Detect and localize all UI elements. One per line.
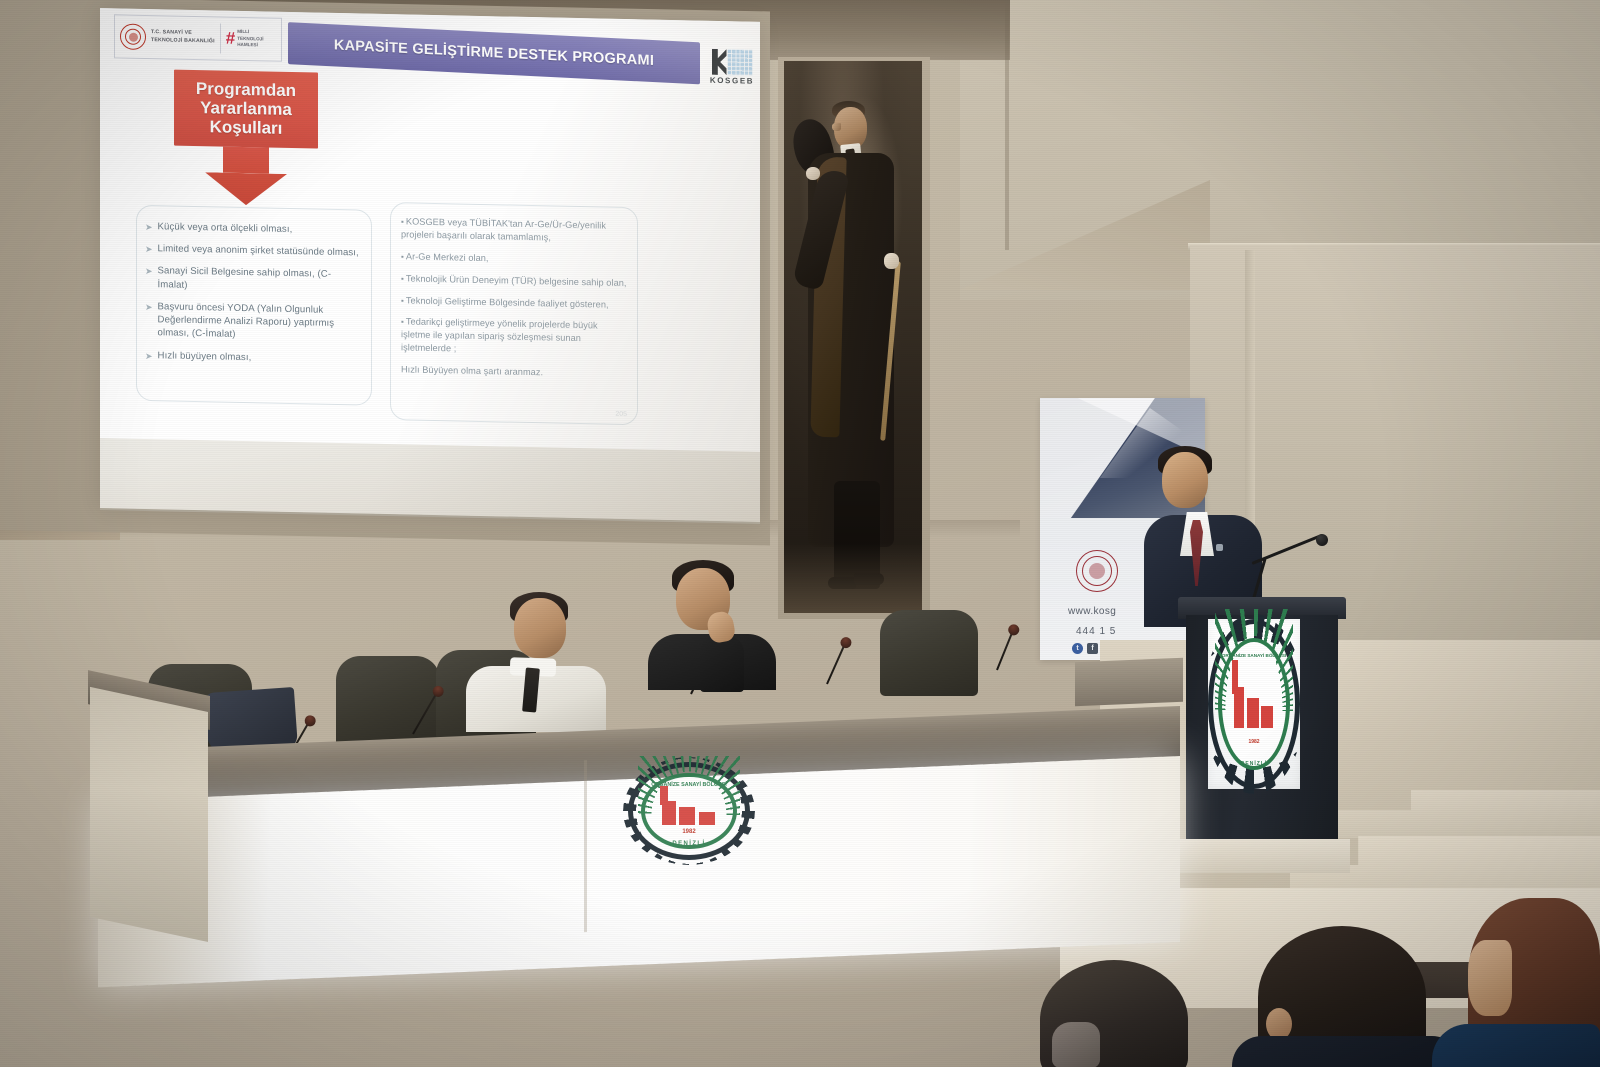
list-item: ➤ Sanayi Sicil Belgesine sahip olması, (… [145,264,361,295]
factory-block-3 [699,812,715,825]
portrait-right-hand [884,253,899,269]
ataturk-portrait [778,57,930,619]
conditions-footnote: Hızlı Büyüyen olma şartı aranmaz. [401,363,627,381]
lectern-logo-panel: ORGANİZE SANAYİ BÖLGESİ 1982 DENİZLİ [1208,619,1300,789]
osb-ring-text-bottom: DENİZLİ [628,841,750,847]
presentation-slide: T.C. SANAYİ VE TEKNOLOJİ BAKANLIĞI # MİL… [100,8,760,452]
factory-block-3 [1261,706,1273,728]
osb-ring-text-top: ORGANİZE SANAYİ BÖLGESİ [628,782,750,788]
facebook-icon: f [1087,643,1098,654]
arrow-bullet-icon: ➤ [145,300,153,313]
list-item: ➤ Başvuru öncesi YODA (Yalın Olgunluk De… [145,300,361,344]
kosgeb-k-icon [712,49,727,75]
desk-right-cap [1075,658,1183,707]
arrow-bullet-icon: ➤ [145,242,153,255]
podium-microphone-head-icon [1316,534,1328,546]
list-item: Teknoloji Geliştirme Bölgesinde faaliyet… [401,294,627,312]
condition-text: Hızlı büyüyen olması, [158,349,252,364]
conditions-callout: Programdan Yararlanma Koşulları [174,70,318,207]
kosgeb-logo: KOSGEB [708,49,756,94]
arrow-bullet-icon: ➤ [145,220,153,233]
portrait-left-hand [806,167,820,180]
speaker-head [1162,452,1208,508]
panelist-1-head [514,598,566,658]
lectern: ORGANİZE SANAYİ BÖLGESİ 1982 DENİZLİ [1178,597,1346,873]
arrow-head-icon [205,172,287,206]
ministry-name: T.C. SANAYİ VE TEKNOLOJİ BAKANLIĞI [151,30,215,46]
factory-icon [1234,687,1274,728]
osb-year: 1982 [628,829,750,835]
kosgeb-grid-icon [727,49,753,76]
milli-teknoloji-hamlesi-logo: # MİLLİ TEKNOLOJİ HAMLESİ [226,29,264,49]
condition-text: Başvuru öncesi YODA (Yalın Olgunluk Değe… [158,300,361,344]
list-item: ➤ Hızlı büyüyen olması, [145,349,361,367]
list-item: KOSGEB veya TÜBİTAK'tan Ar-Ge/Ür-Ge/yeni… [401,215,627,245]
osb-ring-text-bottom: DENİZLİ [1208,761,1300,767]
slide-title-bar: KAPASİTE GELİŞTİRME DESTEK PROGRAMI [288,22,700,84]
list-item: Teknolojik Ürün Deneyim (TÜR) belgesine … [401,272,627,290]
wall-seam [1005,0,1009,250]
arrow-stem-icon [223,147,269,174]
campaign-words: MİLLİ TEKNOLOJİ HAMLESİ [237,29,263,49]
audience-3-shoulders [1432,1024,1600,1067]
audience-1-gray-hair [1052,1022,1100,1067]
ministry-line-2: TEKNOLOJİ BAKANLIĞI [151,37,215,46]
banner-website: www.kosg [1068,606,1116,617]
callout-line-3: Koşulları [180,117,312,139]
factory-block-1 [662,801,676,825]
twitter-icon: t [1072,643,1083,654]
portrait-image [784,61,922,613]
arrow-bullet-icon: ➤ [145,349,153,362]
factory-block-2 [1247,698,1259,728]
banner-phone: 444 1 5 [1076,626,1116,637]
conference-hall-photo: T.C. SANAYİ VE TEKNOLOJİ BAKANLIĞI # MİL… [0,0,1600,1067]
factory-block-1 [1234,687,1245,728]
audience-2-shoulders [1232,1036,1462,1067]
kosgeb-wordmark: KOSGEB [710,76,754,86]
factory-icon [662,801,716,825]
right-conditions-panel: KOSGEB veya TÜBİTAK'tan Ar-Ge/Ür-Ge/yeni… [390,202,638,425]
slide-title: KAPASİTE GELİŞTİRME DESTEK PROGRAMI [334,37,654,69]
list-item: Ar-Ge Merkezi olan, [401,250,627,268]
list-item: ➤ Limited veya anonim şirket statüsünde … [145,242,361,260]
campaign-line-3: HAMLESİ [237,42,263,49]
condition-text: Küçük veya orta ölçekli olması, [158,220,293,236]
desk-osb-logo: ORGANİZE SANAYİ BÖLGESİ 1982 DENİZLİ [628,762,750,860]
arrow-bullet-icon: ➤ [145,264,153,277]
desk-panel-seam [584,760,587,932]
tc-ministry-emblem-icon [120,23,146,50]
slide-header-logos: T.C. SANAYİ VE TEKNOLOJİ BAKANLIĞI # MİL… [114,14,282,62]
lectern-base [1174,839,1350,873]
audience-3-face [1468,940,1512,1016]
logo-divider [220,24,221,54]
factory-block-2 [679,807,695,824]
tc-ministry-emblem-icon [1076,550,1118,592]
callout-box: Programdan Yararlanma Koşulları [174,70,318,149]
kosgeb-mark-icon [712,49,753,76]
lapel-pin-icon [1216,544,1223,551]
osb-year: 1982 [1208,739,1300,745]
condition-text: Limited veya anonim şirket statüsünde ol… [158,242,359,259]
osb-ring-text-top: ORGANİZE SANAYİ BÖLGESİ [1208,653,1300,658]
portrait-nose [832,123,841,131]
slide-page-number: 205 [615,411,627,418]
desk-left-return [90,687,208,942]
left-conditions-panel: ➤ Küçük veya orta ölçekli olması, ➤ Limi… [136,205,372,406]
list-item: ➤ Küçük veya orta ölçekli olması, [145,220,361,238]
portrait-floor [784,543,922,613]
projection-screen: T.C. SANAYİ VE TEKNOLOJİ BAKANLIĞI # MİL… [100,8,760,522]
callout-line-2: Yararlanma [180,98,312,120]
list-item: Tedarikçi geliştirmeye yönelik projelerd… [401,316,627,359]
condition-text: Sanayi Sicil Belgesine sahip olması, (C-… [158,265,361,296]
hash-icon: # [226,30,235,47]
